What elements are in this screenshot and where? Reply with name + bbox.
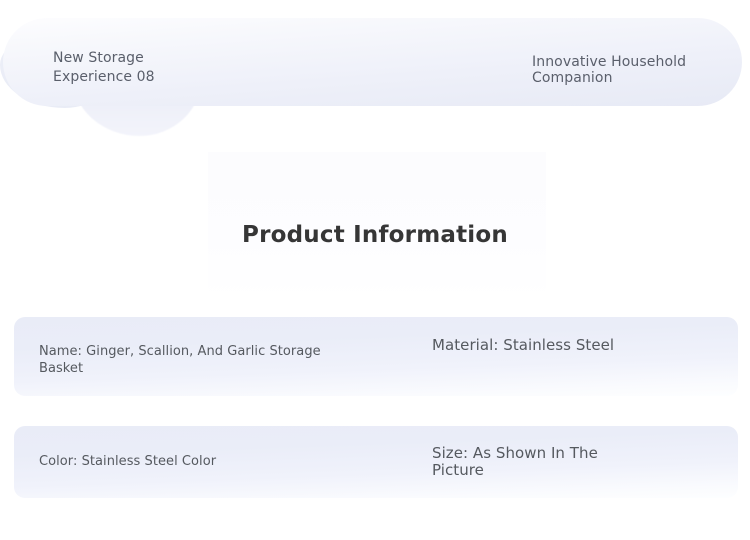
banner-headline-right: Innovative Household Companion (532, 54, 692, 86)
spec-name: Name: Ginger, Scallion, And Garlic Stora… (39, 343, 329, 377)
product-detail-page: New Storage Experience 08 Innovative Hou… (0, 0, 750, 540)
spec-material: Material: Stainless Steel (432, 337, 637, 354)
spec-size: Size: As Shown In The Picture (432, 445, 637, 479)
page-title: Product Information (0, 222, 750, 248)
spec-color: Color: Stainless Steel Color (39, 453, 329, 470)
header-banner: New Storage Experience 08 Innovative Hou… (0, 0, 750, 150)
table-row: Color: Stainless Steel Color Size: As Sh… (14, 426, 738, 498)
table-row: Name: Ginger, Scallion, And Garlic Stora… (14, 317, 738, 396)
banner-headline-left: New Storage Experience 08 (53, 49, 183, 87)
